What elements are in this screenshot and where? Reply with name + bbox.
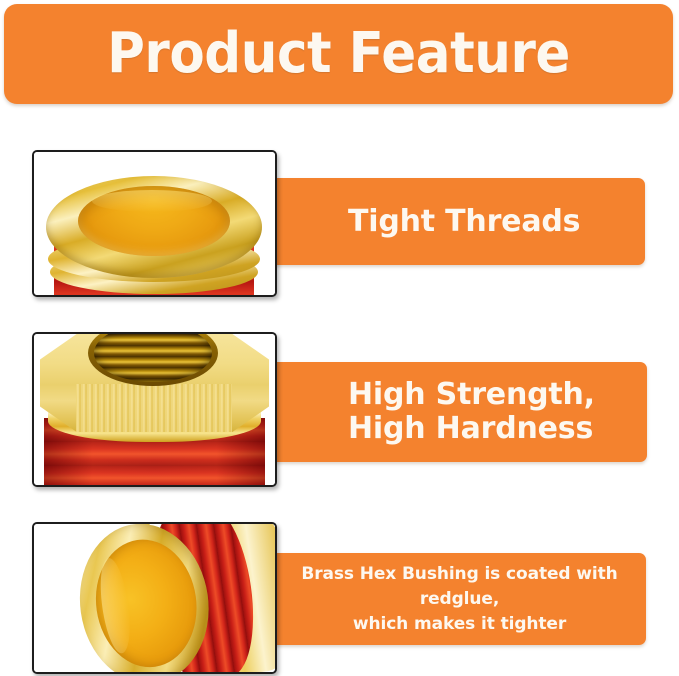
feature-row-1: Tight Threads: [0, 150, 679, 300]
feature-row-3: Brass Hex Bushing is coated with redglue…: [0, 522, 679, 674]
feature-label-2: High Strength, High Hardness: [243, 378, 595, 446]
bore-highlight: [92, 190, 212, 212]
feature-label-3: Brass Hex Bushing is coated with redglue…: [243, 562, 646, 637]
feature-row-2: High Strength, High Hardness: [0, 332, 679, 487]
angled-bushing-group: [34, 524, 275, 672]
angled-bushing-body: [60, 524, 275, 672]
feature-photo-box-1: [32, 150, 277, 297]
brass-hex-bushing-front-view-photo: [34, 334, 275, 485]
brass-bushing-top-view-photo: [34, 152, 275, 295]
hex-knurl-texture: [76, 384, 232, 432]
brass-bushing-angled-view-photo: [34, 524, 275, 672]
page-title: Product Feature: [107, 26, 570, 82]
product-feature-infographic: Product Feature Tight Threads High Stren…: [0, 0, 679, 676]
feature-photo-box-3: [32, 522, 277, 674]
feature-label-1: Tight Threads: [243, 205, 580, 239]
header-banner: Product Feature: [4, 4, 673, 104]
feature-photo-box-2: [32, 332, 277, 487]
feature-label-banner-2: High Strength, High Hardness: [243, 362, 647, 462]
feature-label-banner-3: Brass Hex Bushing is coated with redglue…: [243, 553, 646, 645]
feature-label-banner-1: Tight Threads: [243, 178, 645, 265]
